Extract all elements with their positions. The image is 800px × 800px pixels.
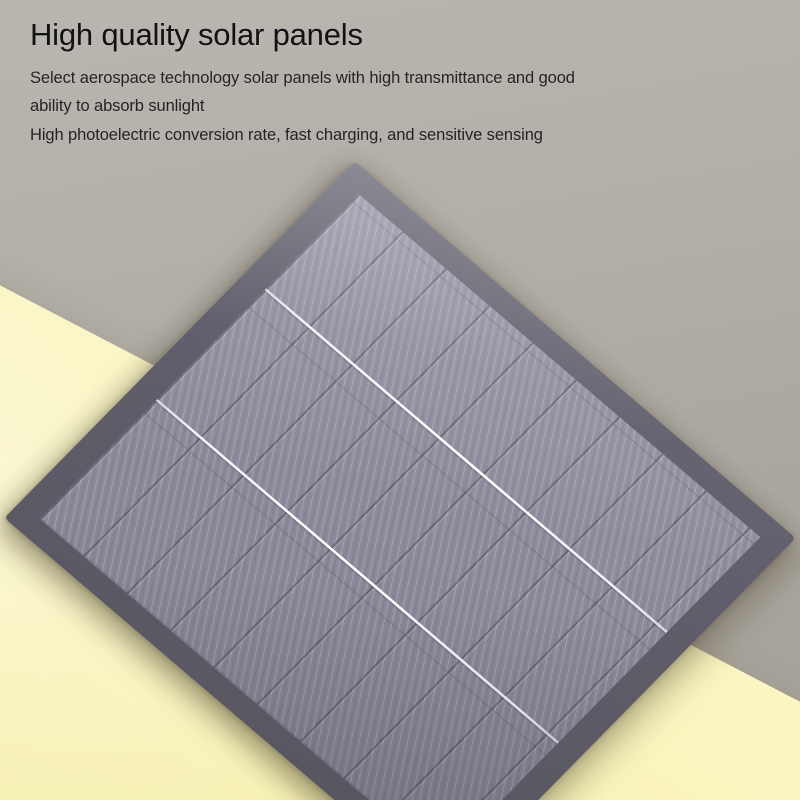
- description-line-1: Select aerospace technology solar panels…: [30, 65, 720, 92]
- marketing-copy: High quality solar panels Select aerospa…: [30, 18, 720, 149]
- description-line-2: ability to absorb sunlight: [30, 93, 720, 120]
- page-title: High quality solar panels: [30, 18, 720, 53]
- product-feature-image: High quality solar panels Select aerospa…: [0, 0, 800, 800]
- description-line-3: High photoelectric conversion rate, fast…: [30, 122, 720, 149]
